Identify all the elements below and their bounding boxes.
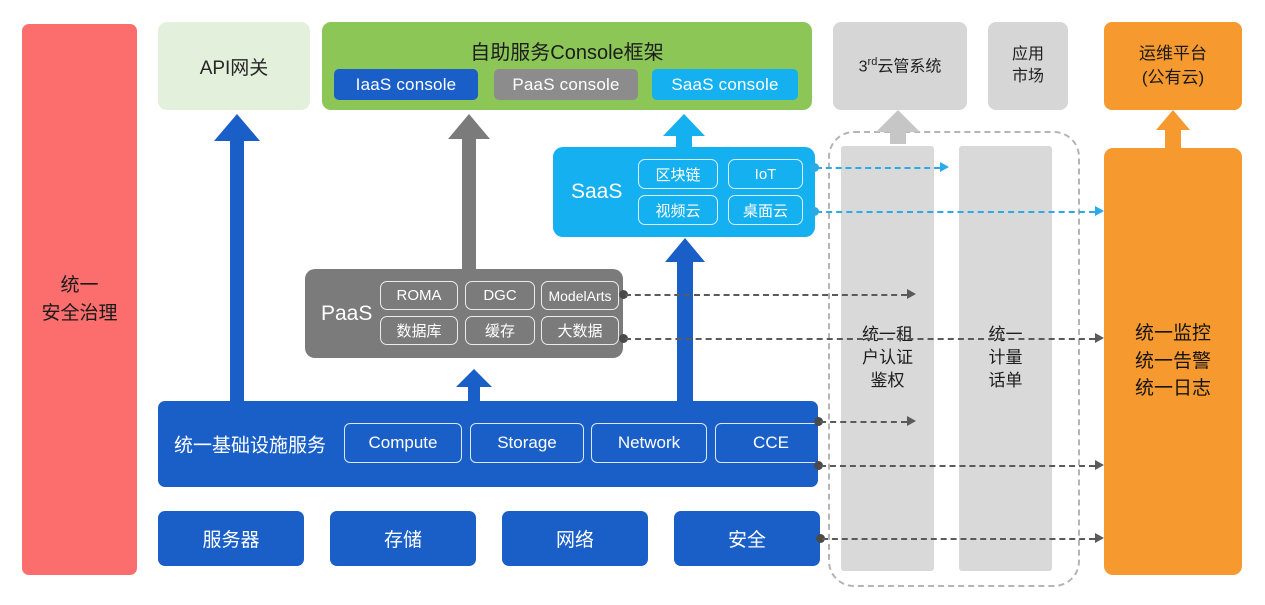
connector-infra-to-monitoring xyxy=(820,465,1095,467)
hardware-box-server: 服务器 xyxy=(158,511,304,566)
paas-item-dgc[interactable]: DGC xyxy=(465,281,535,310)
saas-block: SaaS 区块链 IoT 视频云 桌面云 xyxy=(553,147,815,237)
security-line-1: 统一 xyxy=(60,272,98,300)
hardware-label-network: 网络 xyxy=(556,525,594,552)
api-gateway-label: API网关 xyxy=(200,53,269,80)
unified-monitoring-block: 统一监控 统一告警 统一日志 xyxy=(1104,148,1242,575)
third-party-cloud-management-block: 3rd云管系统 xyxy=(833,22,967,110)
infra-item-compute-label: Compute xyxy=(369,433,438,453)
unified-tenant-auth-column: 统一租 户认证 鉴权 xyxy=(841,146,934,571)
console-title: 自助服务Console框架 xyxy=(322,36,812,65)
ops-platform-line-1: 运维平台 xyxy=(1139,42,1207,66)
infra-label: 统一基础设施服务 xyxy=(174,431,326,458)
self-service-console-block: 自助服务Console框架 IaaS console PaaS console … xyxy=(322,22,812,110)
tenant-auth-line-2: 户认证 xyxy=(862,347,913,370)
api-gateway-block: API网关 xyxy=(158,22,310,110)
paas-item-bigdata-label: 大数据 xyxy=(557,320,602,341)
connector-saas-to-auth xyxy=(816,167,940,169)
security-line-2: 安全治理 xyxy=(41,300,117,328)
console-chip-saas-label: SaaS console xyxy=(671,75,778,95)
arrow-paas-to-console xyxy=(448,114,490,270)
paas-item-cache-label: 缓存 xyxy=(485,320,515,341)
app-market-line-1: 应用 xyxy=(1012,44,1044,66)
console-chip-iaas[interactable]: IaaS console xyxy=(334,69,478,100)
metering-line-1: 统一 xyxy=(989,324,1023,347)
paas-item-bigdata[interactable]: 大数据 xyxy=(541,316,619,345)
console-chip-saas[interactable]: SaaS console xyxy=(652,69,798,100)
console-chip-paas[interactable]: PaaS console xyxy=(494,69,638,100)
console-chip-iaas-label: IaaS console xyxy=(356,75,457,95)
saas-item-desktop-cloud[interactable]: 桌面云 xyxy=(728,195,803,225)
hardware-box-security: 安全 xyxy=(674,511,820,566)
paas-item-dgc-label: DGC xyxy=(483,287,516,304)
paas-item-cache[interactable]: 缓存 xyxy=(465,316,535,345)
connector-arrowhead-saas-to-auth xyxy=(940,162,949,172)
saas-item-desktop-cloud-label: 桌面云 xyxy=(743,200,788,221)
infra-item-cce[interactable]: CCE xyxy=(715,423,827,463)
unified-security-governance-block: 统一 安全治理 xyxy=(22,24,137,575)
connector-arrowhead-hardware-to-monitoring xyxy=(1095,533,1104,543)
paas-item-database-label: 数据库 xyxy=(396,320,441,341)
connector-infra-to-auth xyxy=(820,421,907,423)
connector-paas-to-auth xyxy=(625,294,907,296)
hardware-label-storage: 存储 xyxy=(384,525,422,552)
unified-infrastructure-service-block: 统一基础设施服务 Compute Storage Network CCE xyxy=(158,401,818,487)
infra-item-storage[interactable]: Storage xyxy=(470,423,584,463)
paas-item-roma[interactable]: ROMA xyxy=(380,281,458,310)
infra-item-network-label: Network xyxy=(618,433,680,453)
paas-item-database[interactable]: 数据库 xyxy=(380,316,458,345)
hardware-label-security: 安全 xyxy=(728,525,766,552)
connector-arrowhead-paas-to-auth xyxy=(907,289,916,299)
app-market-line-2: 市场 xyxy=(1012,66,1044,88)
connector-arrowhead-paas-to-monitoring xyxy=(1095,333,1104,343)
infra-item-compute[interactable]: Compute xyxy=(344,423,462,463)
connector-saas-to-monitoring xyxy=(816,211,1095,213)
arrow-saas-to-console xyxy=(663,114,705,148)
app-market-block: 应用 市场 xyxy=(988,22,1068,110)
infra-item-storage-label: Storage xyxy=(497,433,557,453)
saas-item-iot[interactable]: IoT xyxy=(728,159,803,189)
arrow-infra-to-paas xyxy=(456,369,492,402)
architecture-diagram: 统一 安全治理 API网关 自助服务Console框架 IaaS console… xyxy=(0,0,1265,605)
connector-paas-to-monitoring xyxy=(625,338,1095,340)
hardware-box-storage: 存储 xyxy=(330,511,476,566)
saas-item-blockchain-label: 区块链 xyxy=(655,164,700,185)
paas-item-modelarts-label: ModelArts xyxy=(548,288,611,304)
ops-platform-line-2: (公有云) xyxy=(1142,66,1204,90)
infra-item-network[interactable]: Network xyxy=(591,423,707,463)
saas-item-video-cloud[interactable]: 视频云 xyxy=(638,195,718,225)
ops-big-line-1: 统一监控 xyxy=(1135,320,1211,348)
third-party-label: 3rd云管系统 xyxy=(859,55,942,78)
saas-item-blockchain[interactable]: 区块链 xyxy=(638,159,718,189)
hardware-label-server: 服务器 xyxy=(202,525,259,552)
tenant-auth-line-1: 统一租 xyxy=(862,324,913,347)
console-chip-paas-label: PaaS console xyxy=(512,75,619,95)
paas-block: PaaS ROMA DGC ModelArts 数据库 缓存 大数据 xyxy=(305,269,623,358)
saas-item-video-cloud-label: 视频云 xyxy=(655,200,700,221)
connector-hardware-to-monitoring xyxy=(822,538,1095,540)
saas-item-iot-label: IoT xyxy=(755,166,777,183)
arrow-infra-to-api-gateway xyxy=(214,114,260,402)
hardware-box-network: 网络 xyxy=(502,511,648,566)
ops-big-line-3: 统一日志 xyxy=(1135,375,1211,403)
paas-item-modelarts[interactable]: ModelArts xyxy=(541,281,619,310)
connector-arrowhead-infra-to-monitoring xyxy=(1095,460,1104,470)
connector-arrowhead-saas-to-monitoring xyxy=(1095,206,1104,216)
ops-platform-public-cloud-block: 运维平台 (公有云) xyxy=(1104,22,1242,110)
metering-line-2: 计量 xyxy=(989,347,1023,370)
connector-arrowhead-infra-to-auth xyxy=(907,416,916,426)
tenant-auth-line-3: 鉴权 xyxy=(871,370,905,393)
unified-metering-billing-column: 统一 计量 话单 xyxy=(959,146,1052,571)
paas-item-roma-label: ROMA xyxy=(397,287,442,304)
infra-item-cce-label: CCE xyxy=(753,433,789,453)
arrow-monitoring-to-ops-platform xyxy=(1151,110,1195,150)
saas-label: SaaS xyxy=(571,180,622,204)
metering-line-3: 话单 xyxy=(989,370,1023,393)
paas-label: PaaS xyxy=(321,302,372,326)
arrow-infra-to-saas xyxy=(665,238,705,402)
arrow-shared-to-third-party xyxy=(876,110,920,144)
ops-big-line-2: 统一告警 xyxy=(1135,348,1211,376)
